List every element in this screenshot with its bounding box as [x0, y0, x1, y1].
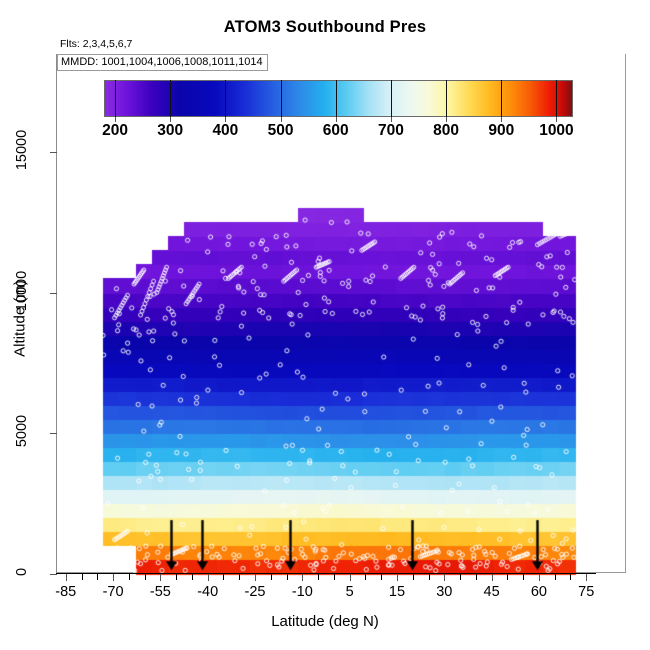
colorbar-tick-label: 500	[268, 122, 294, 140]
x-axis-tick-label: 5	[346, 584, 354, 600]
x-axis-minor-tick	[523, 574, 524, 580]
colorbar-divider	[556, 80, 557, 117]
plot-root: ATOM3 Southbound Pres Flts: 2,3,4,5,6,7 …	[0, 0, 650, 650]
x-axis-tick	[66, 574, 67, 581]
x-axis-minor-tick	[381, 574, 382, 580]
x-axis-minor-tick	[476, 574, 477, 580]
x-axis-tick-label: -70	[103, 584, 124, 600]
x-axis-tick	[255, 574, 256, 581]
x-axis-tick	[539, 574, 540, 581]
colorbar-divider	[281, 80, 282, 117]
y-axis-tick-label: 0	[14, 550, 30, 594]
x-axis-minor-tick	[334, 574, 335, 580]
y-axis-title: Altitude (m)	[12, 239, 29, 399]
x-axis-minor-tick	[507, 574, 508, 580]
colorbar-tick-label: 400	[212, 122, 238, 140]
x-axis-minor-tick	[429, 574, 430, 580]
x-axis-minor-tick	[555, 574, 556, 580]
x-axis-tick	[302, 574, 303, 581]
x-axis-tick-label: -85	[55, 584, 76, 600]
x-axis-minor-tick	[365, 574, 366, 580]
x-axis-minor-tick	[223, 574, 224, 580]
x-axis-tick-label: 60	[531, 584, 547, 600]
colorbar-tick-label: 900	[488, 122, 514, 140]
colorbar: 2003004005006007008009001000	[104, 80, 573, 117]
y-axis-tick	[50, 433, 57, 434]
x-axis-minor-tick	[129, 574, 130, 580]
colorbar-divider	[391, 80, 392, 117]
x-axis-minor-tick	[318, 574, 319, 580]
y-axis-tick	[50, 574, 57, 575]
x-axis-tick	[586, 574, 587, 581]
x-axis-minor-tick	[570, 574, 571, 580]
x-axis-minor-tick	[176, 574, 177, 580]
y-axis-tick-label: 15000	[14, 128, 30, 172]
x-axis-tick	[113, 574, 114, 581]
y-axis-tick-label: 5000	[14, 409, 30, 453]
x-axis-minor-tick	[97, 574, 98, 580]
y-axis-tick	[50, 293, 57, 294]
x-axis-tick-label: -10	[292, 584, 313, 600]
x-axis-minor-tick	[413, 574, 414, 580]
x-axis-tick	[208, 574, 209, 581]
colorbar-tick-label: 200	[102, 122, 128, 140]
x-axis-tick	[492, 574, 493, 581]
x-axis-minor-tick	[287, 574, 288, 580]
colorbar-gradient	[104, 80, 573, 117]
colorbar-divider	[446, 80, 447, 117]
x-axis-tick-label: -55	[150, 584, 171, 600]
x-axis-title: Latitude (deg N)	[0, 613, 650, 630]
x-axis-minor-tick	[460, 574, 461, 580]
x-axis-tick	[350, 574, 351, 581]
x-axis-line	[56, 573, 596, 574]
x-axis-tick-label: -25	[245, 584, 266, 600]
x-axis-tick	[160, 574, 161, 581]
colorbar-divider	[170, 80, 171, 117]
x-axis-minor-tick	[271, 574, 272, 580]
x-axis-minor-tick	[82, 574, 83, 580]
y-axis-tick-label: 10000	[14, 269, 30, 313]
x-axis-minor-tick	[192, 574, 193, 580]
colorbar-divider	[225, 80, 226, 117]
colorbar-divider	[501, 80, 502, 117]
x-axis-tick-label: 75	[578, 584, 594, 600]
x-axis-tick-label: 45	[484, 584, 500, 600]
x-axis-tick-label: -40	[197, 584, 218, 600]
x-axis-tick-label: 30	[436, 584, 452, 600]
colorbar-tick-label: 600	[323, 122, 349, 140]
y-axis-line	[56, 54, 57, 573]
x-axis-minor-tick	[239, 574, 240, 580]
x-axis-tick-label: 15	[389, 584, 405, 600]
x-axis-tick	[444, 574, 445, 581]
x-axis-tick	[397, 574, 398, 581]
y-axis-tick	[50, 152, 57, 153]
colorbar-tick-label: 1000	[539, 122, 573, 140]
x-axis-minor-tick	[145, 574, 146, 580]
colorbar-tick-label: 300	[157, 122, 183, 140]
colorbar-tick-label: 700	[378, 122, 404, 140]
colorbar-divider	[115, 80, 116, 117]
colorbar-tick-label: 800	[433, 122, 459, 140]
colorbar-divider	[336, 80, 337, 117]
